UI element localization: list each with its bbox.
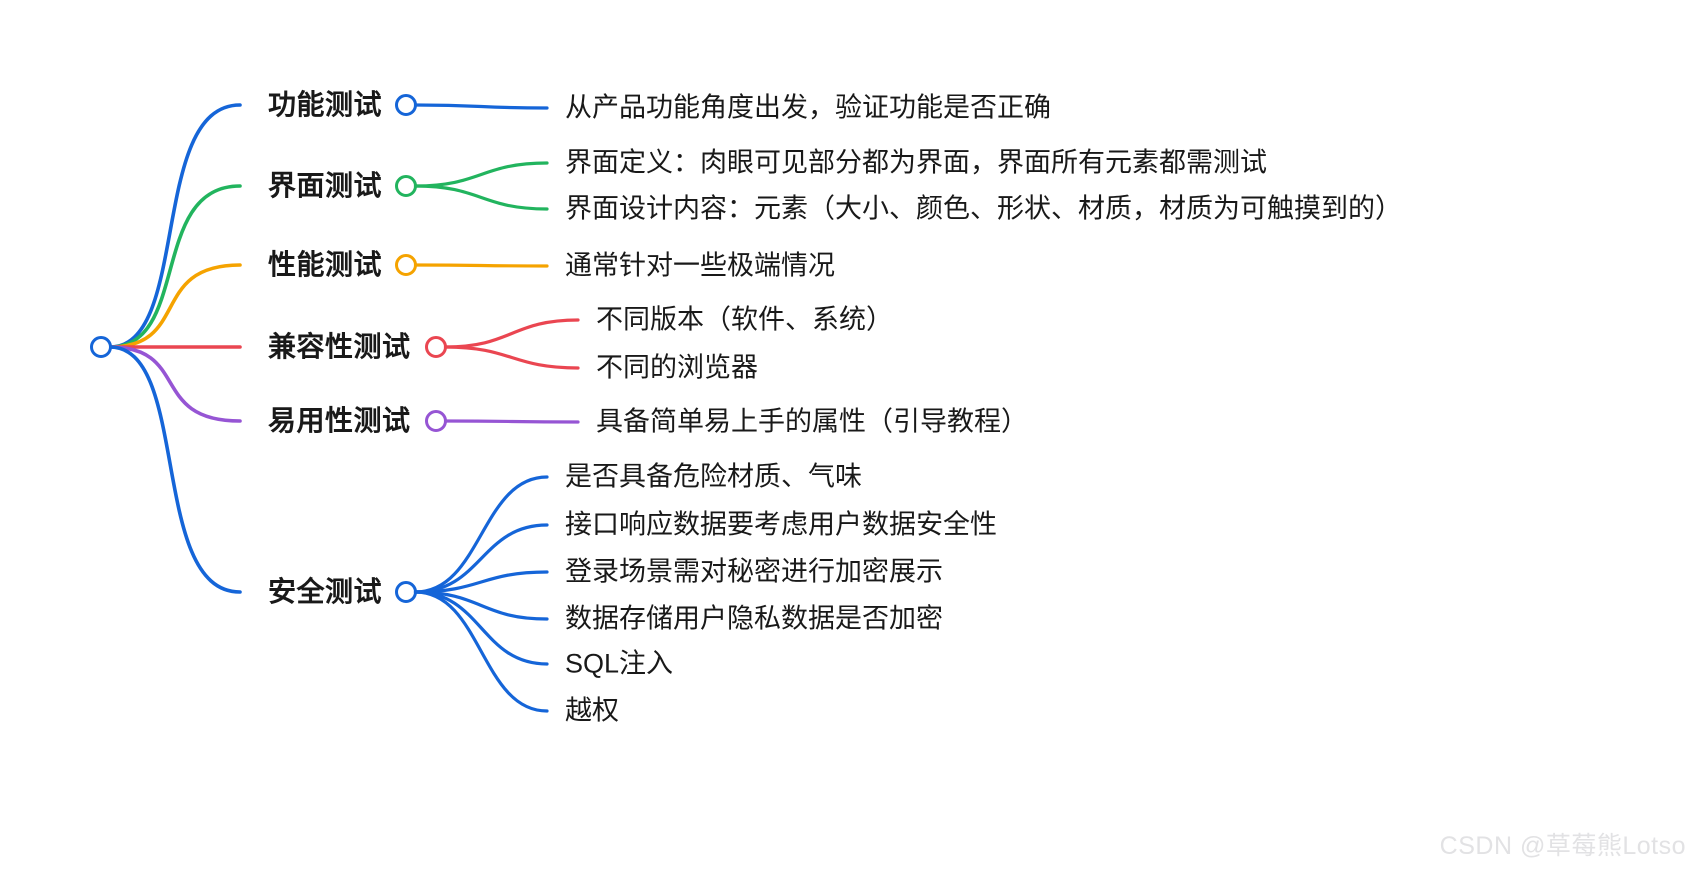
edge-security-test-child-5 [416,592,548,711]
leaf-label-security-test-2[interactable]: 登录场景需对秘密进行加密展示 [565,559,943,586]
leaf-label-ui-test-0[interactable]: 界面定义：肉眼可见部分都为界面，界面所有元素都需测试 [565,150,1267,177]
edge-root-to-usability-test [110,347,240,421]
node-root[interactable] [92,338,111,357]
branch-label-security-test[interactable]: 安全测试 [268,578,382,606]
node-compatibility-test[interactable] [427,338,446,357]
leaf-label-performance-test-0[interactable]: 通常针对一些极端情况 [565,253,835,280]
edge-performance-test-child-0 [416,265,548,266]
mindmap-canvas: 功能测试从产品功能角度出发，验证功能是否正确界面测试界面定义：肉眼可见部分都为界… [0,0,1702,882]
node-functional-test[interactable] [397,96,416,115]
edge-functional-test-child-0 [416,105,548,108]
leaf-label-security-test-1[interactable]: 接口响应数据要考虑用户数据安全性 [565,512,997,539]
branch-label-performance-test[interactable]: 性能测试 [268,251,382,279]
node-usability-test[interactable] [427,412,446,431]
node-security-test[interactable] [397,583,416,602]
edge-ui-test-child-1 [416,186,548,209]
edge-root-to-functional-test [110,105,240,347]
leaf-label-compatibility-test-0[interactable]: 不同版本（软件、系统） [596,307,893,334]
edge-root-to-performance-test [110,265,240,347]
watermark: CSDN @草莓熊Lotso [1440,826,1686,862]
leaf-label-usability-test-0[interactable]: 具备简单易上手的属性（引导教程） [596,409,1028,436]
mindmap-edges [0,0,1702,882]
leaf-label-functional-test-0[interactable]: 从产品功能角度出发，验证功能是否正确 [565,95,1051,122]
branch-label-compatibility-test[interactable]: 兼容性测试 [268,333,411,361]
branch-label-usability-test[interactable]: 易用性测试 [268,407,411,435]
leaf-label-ui-test-1[interactable]: 界面设计内容：元素（大小、颜色、形状、材质，材质为可触摸到的） [565,196,1402,223]
edge-root-to-security-test [110,347,240,592]
node-performance-test[interactable] [397,256,416,275]
node-ui-test[interactable] [397,177,416,196]
edge-compatibility-test-child-1 [446,347,579,368]
edge-compatibility-test-child-0 [446,320,579,347]
edge-ui-test-child-0 [416,163,548,186]
edge-security-test-child-0 [416,477,548,592]
leaf-label-security-test-5[interactable]: 越权 [565,698,619,725]
edge-usability-test-child-0 [446,421,579,422]
branch-label-functional-test[interactable]: 功能测试 [268,91,382,119]
branch-label-ui-test[interactable]: 界面测试 [268,172,382,200]
leaf-label-security-test-3[interactable]: 数据存储用户隐私数据是否加密 [565,606,943,633]
leaf-label-compatibility-test-1[interactable]: 不同的浏览器 [596,355,758,382]
leaf-label-security-test-0[interactable]: 是否具备危险材质、气味 [565,464,862,491]
leaf-label-security-test-4[interactable]: SQL注入 [565,651,673,678]
